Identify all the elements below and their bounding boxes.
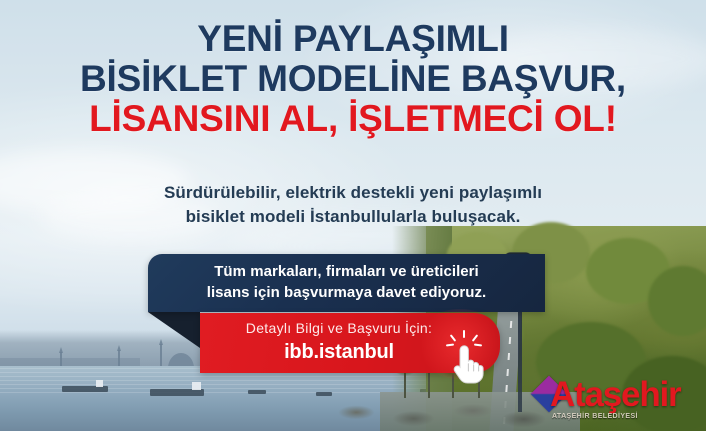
cargo-ship bbox=[150, 389, 204, 396]
ship-superstructure bbox=[96, 380, 103, 387]
callout-line-1: Tüm markaları, firmaları ve üreticileri bbox=[148, 261, 545, 282]
logo-wordmark: Ataşehir bbox=[550, 375, 680, 415]
headline-line-2: BİSİKLET MODELİNE BAŞVUR, bbox=[0, 60, 706, 97]
subheadline-block: Sürdürülebilir, elektrik destekli yeni p… bbox=[0, 181, 706, 229]
shoreline-rocks bbox=[330, 400, 550, 431]
small-boat bbox=[248, 390, 266, 394]
cta-label: Detaylı Bilgi ve Başvuru İçin: bbox=[200, 320, 478, 336]
headline-block: YENİ PAYLAŞIMLI BİSİKLET MODELİNE BAŞVUR… bbox=[0, 20, 706, 137]
callout-tail bbox=[148, 312, 200, 348]
headline-line-1: YENİ PAYLAŞIMLI bbox=[0, 20, 706, 57]
logo-subtitle: ATAŞEHİR BELEDİYESİ bbox=[552, 413, 638, 420]
atasehir-logo: Ataşehir ATAŞEHİR BELEDİYESİ bbox=[536, 377, 702, 425]
small-boat bbox=[316, 392, 332, 396]
callout-text: Tüm markaları, firmaları ve üreticileri … bbox=[148, 261, 545, 304]
ship-superstructure bbox=[192, 382, 201, 390]
pointing-hand-cursor-icon bbox=[443, 330, 489, 384]
palm-tree bbox=[404, 372, 406, 398]
poster-banner: YENİ PAYLAŞIMLI BİSİKLET MODELİNE BAŞVUR… bbox=[0, 0, 706, 431]
headline-line-3: LİSANSINI AL, İŞLETMECİ OL! bbox=[0, 100, 706, 137]
callout-line-2: lisans için başvurmaya davet ediyoruz. bbox=[148, 282, 545, 303]
cta-url[interactable]: ibb.istanbul bbox=[200, 341, 478, 364]
callout-box: Tüm markaları, firmaları ve üreticileri … bbox=[148, 254, 545, 312]
subheadline-line-1: Sürdürülebilir, elektrik destekli yeni p… bbox=[0, 181, 706, 205]
subheadline-line-2: bisiklet modeli İstanbullularla buluşaca… bbox=[0, 205, 706, 229]
